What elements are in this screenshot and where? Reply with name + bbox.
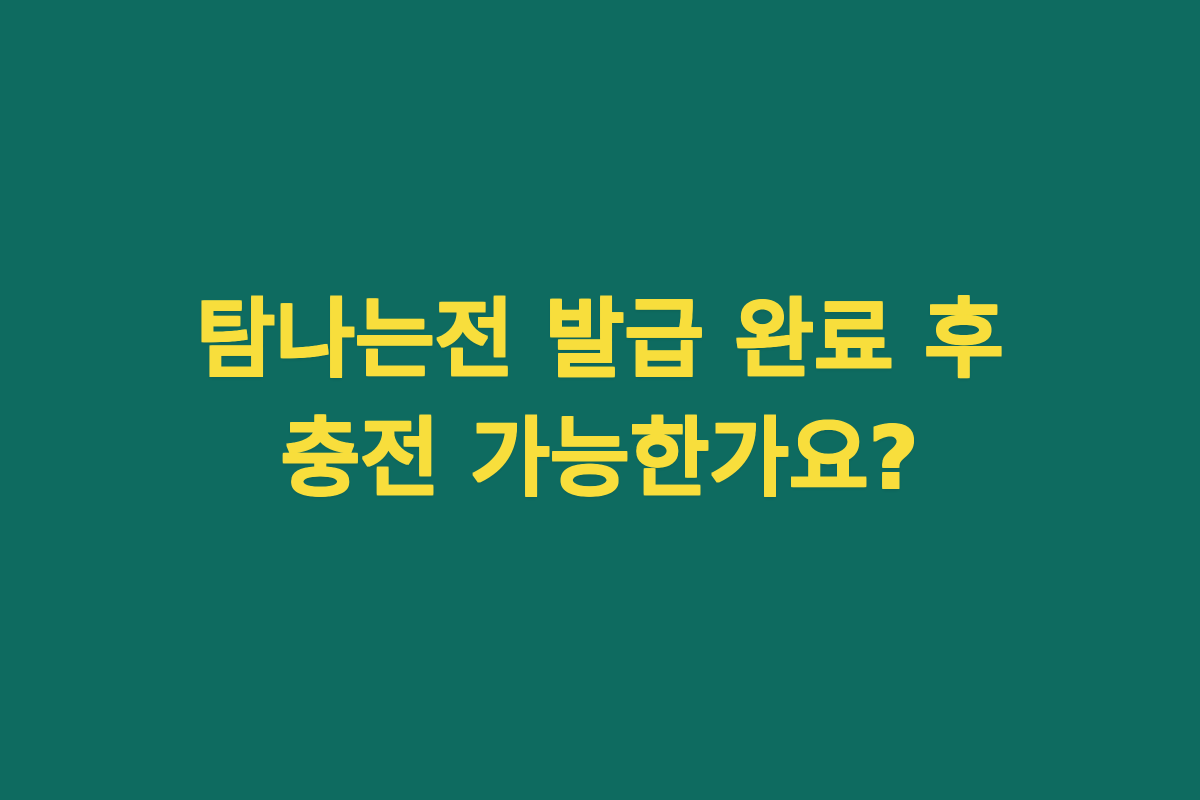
headline: 탐나는전 발급 완료 후 충전 가능한가요? <box>50 281 1150 518</box>
headline-line-2: 충전 가능한가요? <box>50 400 1150 519</box>
headline-line-1: 탐나는전 발급 완료 후 <box>50 281 1150 400</box>
banner-background: 탐나는전 발급 완료 후 충전 가능한가요? <box>0 0 1200 800</box>
